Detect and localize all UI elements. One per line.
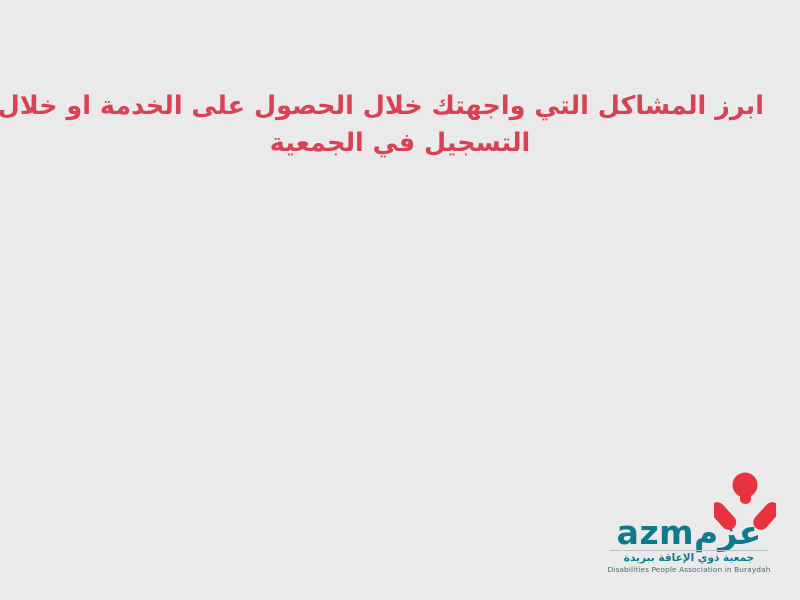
logo-tagline-arabic: جمعية ذوي الإعاقة ببريدة xyxy=(596,552,782,564)
poster-canvas: ابرز المشاكل التي واجهتك خلال الحصول على… xyxy=(0,0,800,600)
logo-divider xyxy=(610,550,768,551)
page-title-line-2: التسجيل في الجمعية xyxy=(36,125,764,162)
azm-wordmark-latin: azm xyxy=(617,513,694,552)
azm-logo: azmعزم جمعية ذوي الإعاقة ببريدة Disabili… xyxy=(596,470,786,578)
page-title: ابرز المشاكل التي واجهتك خلال الحصول على… xyxy=(36,88,764,162)
page-title-line-1: ابرز المشاكل التي واجهتك خلال الحصول على… xyxy=(36,88,764,125)
azm-wordmark: azmعزم xyxy=(596,516,782,549)
azm-wordmark-arabic: عزم xyxy=(694,513,761,552)
logo-tagline-english: Disabilities People Association in Buray… xyxy=(596,565,782,574)
